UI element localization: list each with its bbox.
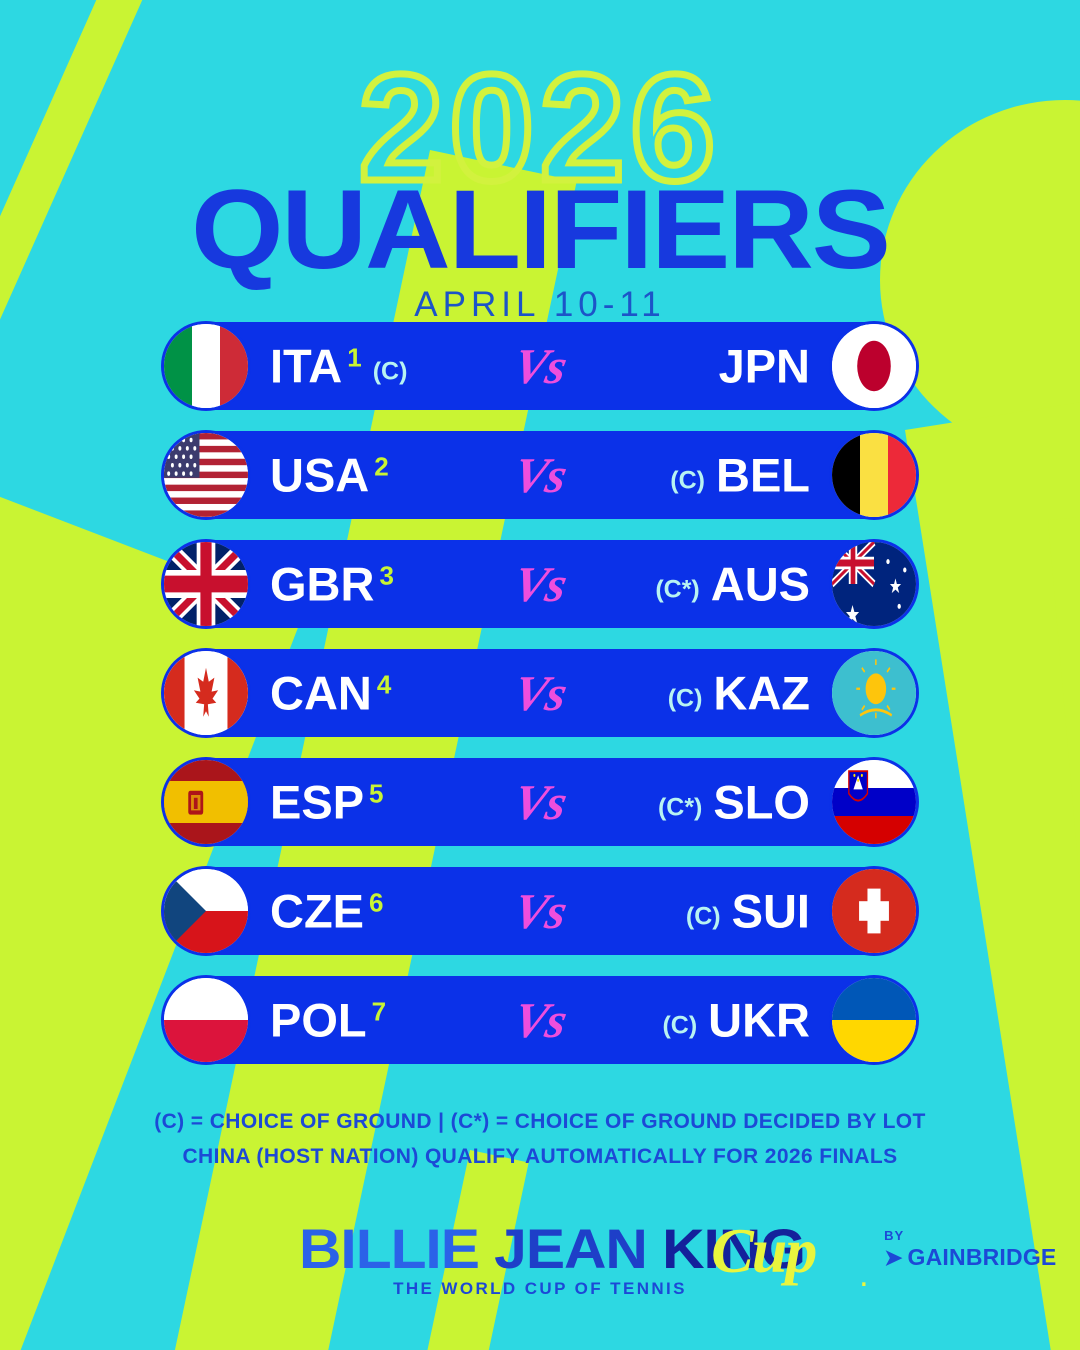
poster-canvas: 2026 QUALIFIERS APRIL 10-11 ITA1(C)VsJPN…: [0, 0, 1080, 1350]
away-ground-marker: (C): [668, 685, 703, 714]
home-flag-canada-icon: [164, 651, 248, 735]
home-seed: 7: [372, 997, 386, 1028]
versus-label: Vs: [508, 991, 571, 1049]
match-list: ITA1(C)VsJPNUSA2Vs(C)BELGBR3Vs(C*)AUSCAN…: [166, 322, 914, 1085]
home-seed: 1: [347, 343, 361, 374]
away-ground-marker: (C): [686, 903, 721, 932]
logo-word-billie: BILLIE: [299, 1217, 479, 1280]
footnotes: (C) = CHOICE OF GROUND | (C*) = CHOICE O…: [0, 1105, 1080, 1174]
away-country-code: AUS: [711, 557, 810, 612]
home-seed: 6: [369, 888, 383, 919]
logo-tagline: THE WORLD CUP OF TENNIS: [299, 1279, 781, 1299]
home-ground-marker: (C): [373, 358, 408, 387]
home-flag-czechia-icon: [164, 869, 248, 953]
away-team: (C)SUI: [686, 884, 810, 939]
away-country-code: BEL: [716, 448, 810, 503]
match-row[interactable]: CZE6Vs(C)SUI: [166, 867, 914, 955]
footnote-host-nation: CHINA (HOST NATION) QUALIFY AUTOMATICALL…: [0, 1140, 1080, 1175]
away-ground-marker: (C): [662, 1012, 697, 1041]
away-flag-japan-icon: [832, 324, 916, 408]
sponsor-arrow-icon: ➤: [884, 1247, 902, 1269]
away-country-code: SUI: [732, 884, 810, 939]
home-team: ITA1(C): [270, 339, 407, 394]
versus-label: Vs: [508, 446, 571, 504]
away-flag-ukraine-icon: [832, 978, 916, 1062]
home-team: CAN4: [270, 666, 391, 721]
away-country-code: SLO: [713, 775, 810, 830]
match-row[interactable]: POL7Vs(C)UKR: [166, 976, 914, 1064]
away-flag-slovenia-icon: [832, 760, 916, 844]
home-seed: 2: [374, 452, 388, 483]
away-ground-marker: (C): [670, 467, 705, 496]
sponsor-name: GAINBRIDGE: [908, 1244, 1057, 1271]
home-country-code: USA: [270, 448, 369, 503]
versus-label: Vs: [508, 664, 571, 722]
away-ground-marker: (C*): [658, 794, 702, 823]
home-flag-great-britain-icon: [164, 542, 248, 626]
home-seed: 4: [377, 670, 391, 701]
away-flag-australia-icon: [832, 542, 916, 626]
away-flag-kazakhstan-icon: [832, 651, 916, 735]
away-team: (C)UKR: [662, 993, 810, 1048]
away-team: (C)BEL: [670, 448, 810, 503]
away-ground-marker: (C*): [655, 576, 699, 605]
match-row[interactable]: GBR3Vs(C*)AUS: [166, 540, 914, 628]
away-country-code: UKR: [708, 993, 810, 1048]
versus-label: Vs: [508, 555, 571, 613]
home-flag-poland-icon: [164, 978, 248, 1062]
versus-label: Vs: [508, 337, 571, 395]
page-title: QUALIFIERS: [0, 181, 1080, 280]
home-country-code: CAN: [270, 666, 372, 721]
match-row[interactable]: USA2Vs(C)BEL: [166, 431, 914, 519]
home-team: ESP5: [270, 775, 384, 830]
home-country-code: CZE: [270, 884, 364, 939]
away-team: (C*)SLO: [658, 775, 810, 830]
poster-header: 2026 QUALIFIERS APRIL 10-11: [0, 66, 1080, 325]
away-team: JPN: [719, 339, 810, 394]
match-row[interactable]: ESP5Vs(C*)SLO: [166, 758, 914, 846]
home-country-code: GBR: [270, 557, 374, 612]
home-flag-italy-icon: [164, 324, 248, 408]
versus-label: Vs: [508, 882, 571, 940]
away-flag-belgium-icon: [832, 433, 916, 517]
billie-jean-king-cup-logo: BILLIE JEAN KING THE WORLD CUP OF TENNIS…: [0, 1222, 1080, 1299]
away-country-code: KAZ: [713, 666, 810, 721]
away-country-code: JPN: [719, 339, 810, 394]
home-team: POL7: [270, 993, 386, 1048]
match-row[interactable]: CAN4Vs(C)KAZ: [166, 649, 914, 737]
logo-cup-dot: .: [859, 1256, 868, 1295]
away-team: (C*)AUS: [655, 557, 810, 612]
away-team: (C)KAZ: [668, 666, 810, 721]
versus-label: Vs: [508, 773, 571, 831]
match-row[interactable]: ITA1(C)VsJPN: [166, 322, 914, 410]
home-team: USA2: [270, 448, 389, 503]
home-team: CZE6: [270, 884, 383, 939]
home-seed: 3: [379, 561, 393, 592]
sponsor-lockup: BY ➤ GAINBRIDGE: [884, 1228, 1056, 1271]
logo-word-jean: JEAN: [494, 1217, 647, 1280]
home-flag-usa-icon: [164, 433, 248, 517]
home-flag-spain-icon: [164, 760, 248, 844]
home-country-code: ITA: [270, 339, 342, 394]
away-flag-switzerland-icon: [832, 869, 916, 953]
sponsor-by-label: BY: [884, 1228, 1056, 1243]
home-seed: 5: [369, 779, 383, 810]
home-team: GBR3: [270, 557, 394, 612]
home-country-code: POL: [270, 993, 367, 1048]
home-country-code: ESP: [270, 775, 364, 830]
logo-cup-script: Cup: [711, 1214, 815, 1288]
footnote-ground-key: (C) = CHOICE OF GROUND | (C*) = CHOICE O…: [0, 1105, 1080, 1140]
